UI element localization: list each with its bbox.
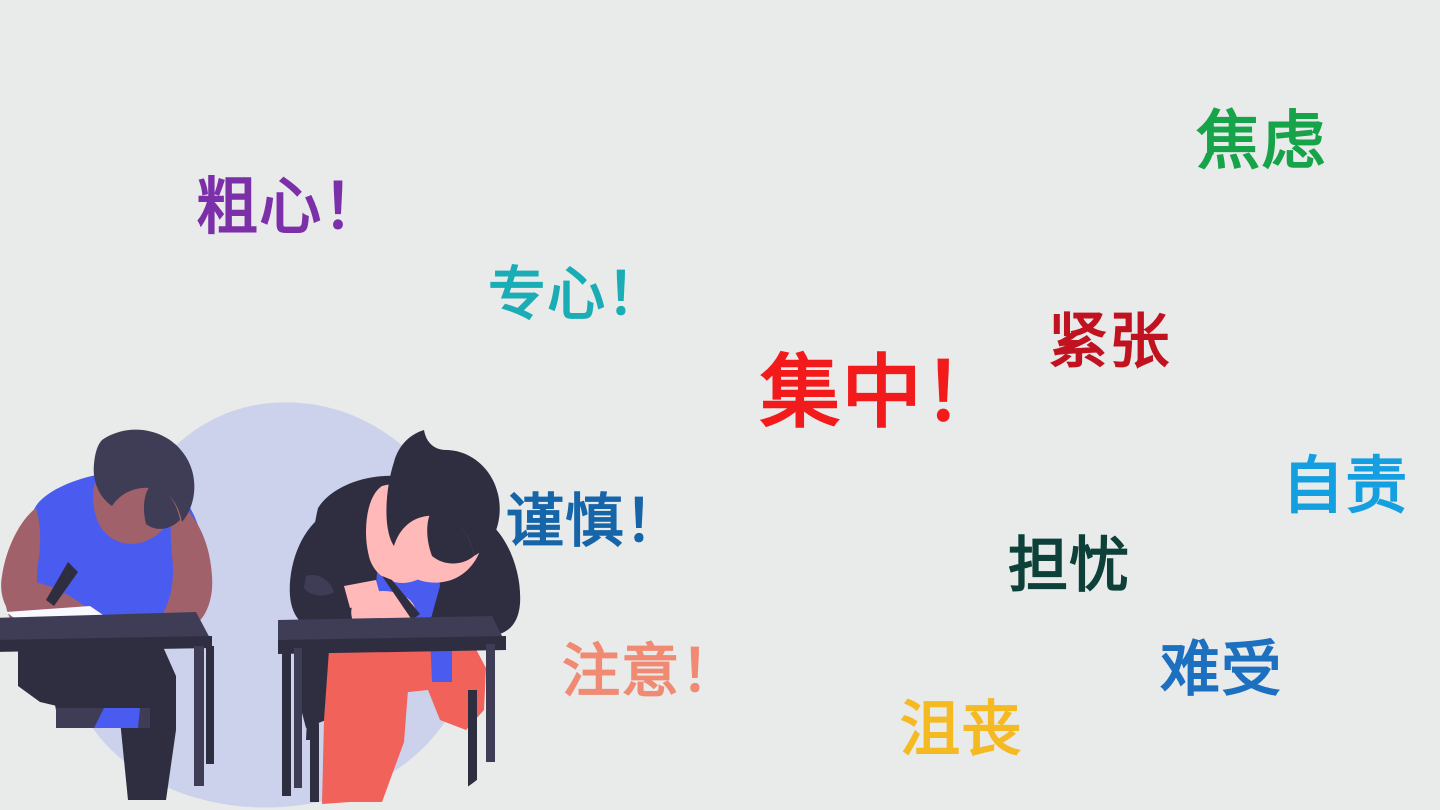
student-right-desk-leg-right	[486, 644, 495, 762]
word-jusang: 沮丧	[900, 700, 1022, 760]
word-jinzhang: 紧张	[1048, 312, 1170, 372]
word-danyou: 担忧	[1008, 536, 1130, 596]
word-zhuyi: 注意！	[562, 642, 739, 700]
word-jizhong: 集中！	[760, 352, 1005, 432]
student-right-desk-leg-left	[282, 648, 291, 796]
student-right-chair-leg2	[468, 690, 477, 788]
word-nanshou: 难受	[1160, 640, 1282, 700]
student-left-desk-leg-right	[194, 646, 204, 786]
student-right-desk-leg-left2	[294, 648, 302, 788]
word-zhuanxin: 专心！	[488, 265, 665, 323]
exam-students-illustration	[0, 390, 540, 810]
word-zize: 自责	[1282, 455, 1408, 517]
word-jiaolv: 焦虑	[1196, 110, 1327, 174]
student-right-chair-leg	[310, 724, 319, 802]
student-left-desk-leg-right2	[206, 646, 214, 764]
slide-canvas: 粗心！ 焦虑 专心！ 紧张 集中！ 自责 谨慎！ 担忧 难受 注意！ 沮丧	[0, 0, 1440, 810]
word-jinshen: 谨慎！	[506, 492, 683, 550]
student-right-pants-lower	[346, 690, 408, 802]
word-cuxin: 粗心！	[196, 176, 386, 238]
